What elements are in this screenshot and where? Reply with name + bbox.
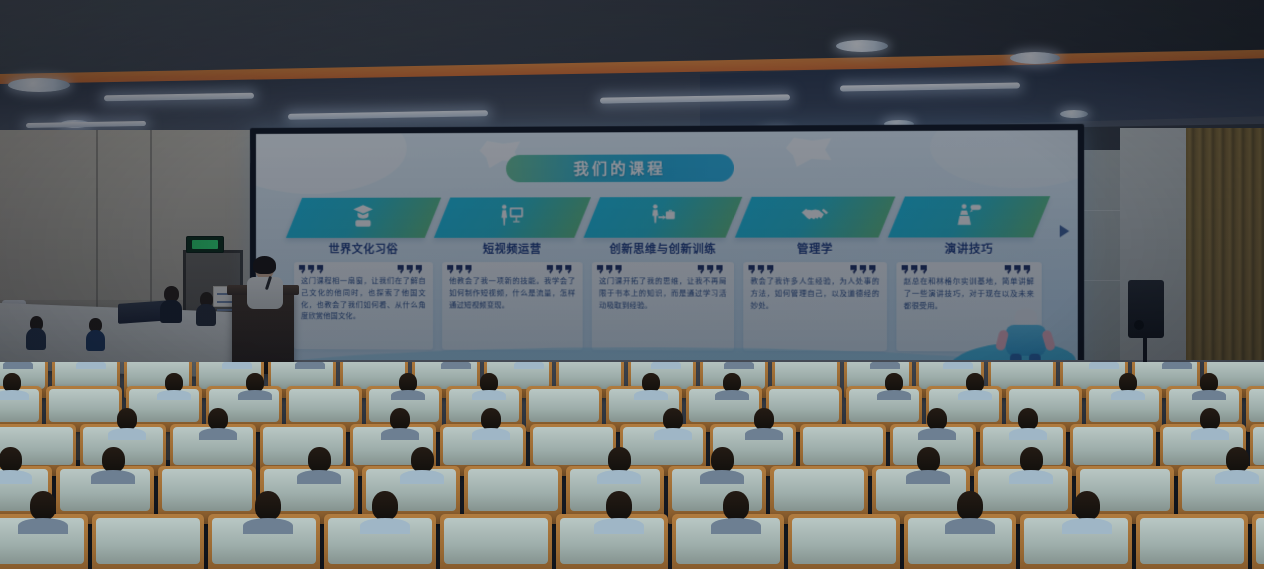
audience-person-head bbox=[723, 491, 750, 520]
audience-person-head bbox=[0, 447, 22, 472]
audience-person-shoulders bbox=[295, 362, 325, 369]
audience-head-row bbox=[0, 489, 1264, 526]
audience-person-shoulders bbox=[918, 428, 956, 440]
audience-person-shoulders bbox=[441, 362, 471, 369]
quote-mark-right-icon bbox=[547, 265, 578, 274]
ceiling-downlight bbox=[8, 78, 70, 92]
course-card-title: 短视频运营 bbox=[442, 244, 583, 258]
audience-head-row bbox=[0, 406, 1264, 436]
course-card-title: 管理学 bbox=[743, 244, 887, 258]
ceiling-downlight bbox=[836, 40, 888, 52]
slide-cloud bbox=[256, 130, 407, 194]
quote-mark-right-icon bbox=[850, 265, 881, 274]
audience-person-head bbox=[372, 491, 399, 520]
audience-person-head bbox=[917, 447, 940, 472]
emergency-exit-sign bbox=[186, 236, 224, 253]
audience-person-shoulders bbox=[1191, 428, 1229, 440]
audience-person-shoulders bbox=[360, 518, 411, 534]
audience-person-shoulders bbox=[297, 470, 341, 484]
audience-person-shoulders bbox=[715, 390, 748, 400]
course-card-body: 他教会了我一项新的技能。我学会了如何制作短视频，什么是流量，怎样通过短视频变现。 bbox=[442, 262, 583, 350]
pa-loudspeaker bbox=[1128, 280, 1164, 338]
course-card: 世界文化习俗这门课程相一扇窗，让我们在了解自己文化的他同时，也探索了他国文化，也… bbox=[294, 198, 433, 374]
audience-person-shoulders bbox=[1162, 362, 1192, 369]
audience-person-shoulders bbox=[381, 428, 419, 440]
seated-person bbox=[86, 318, 105, 359]
audience-person-shoulders bbox=[1192, 390, 1225, 400]
seated-person bbox=[26, 316, 46, 358]
audience-person-shoulders bbox=[222, 362, 252, 369]
audience-person-shoulders bbox=[76, 362, 106, 369]
audience-person-head bbox=[608, 447, 631, 472]
audience-person-shoulders bbox=[597, 470, 641, 484]
audience-person-shoulders bbox=[906, 470, 950, 484]
course-card-title: 世界文化习俗 bbox=[294, 244, 433, 258]
presenter bbox=[243, 258, 287, 306]
audience-person-head bbox=[1020, 447, 1043, 472]
audience-person-head bbox=[117, 408, 137, 430]
audience-person-head bbox=[957, 491, 984, 520]
course-card-banner bbox=[888, 196, 1050, 237]
audience-person-shoulders bbox=[1215, 470, 1259, 484]
presenter-board-icon bbox=[499, 202, 525, 233]
audience-person-shoulders bbox=[651, 362, 681, 369]
audience-person-shoulders bbox=[1009, 470, 1053, 484]
audience-person-shoulders bbox=[91, 470, 135, 484]
audience-person-shoulders bbox=[654, 428, 692, 440]
slide-arrow-icon bbox=[1060, 225, 1070, 237]
lecture-hall-photo: 我们的课程 世界文化习俗这门课程相一扇窗，让我们在了解自己文化的他同时，也探索了… bbox=[0, 0, 1264, 569]
audience-person-head bbox=[663, 408, 683, 430]
person-briefcase-idea-icon bbox=[649, 202, 676, 234]
exit-sign-glyph bbox=[192, 240, 218, 249]
seated-person bbox=[196, 292, 216, 334]
audience-person-head bbox=[1226, 447, 1249, 472]
audience-person-shoulders bbox=[958, 390, 991, 400]
audience-person-head bbox=[208, 408, 228, 430]
podium-speech-icon bbox=[955, 201, 982, 233]
ceiling-downlight bbox=[1010, 52, 1060, 64]
slide-title-text: 我们的课程 bbox=[573, 157, 665, 179]
audience-head-row bbox=[0, 371, 1264, 398]
seated-person bbox=[160, 286, 182, 330]
audience-person-shoulders bbox=[108, 428, 146, 440]
audience-person-shoulders bbox=[724, 362, 754, 369]
course-card-title: 演讲技巧 bbox=[896, 244, 1041, 258]
audience-person-head bbox=[927, 408, 947, 430]
audience-person-shoulders bbox=[700, 470, 744, 484]
audience-person-shoulders bbox=[157, 390, 190, 400]
audience-person-shoulders bbox=[1089, 362, 1119, 369]
audience-person-shoulders bbox=[745, 428, 783, 440]
audience-seating bbox=[0, 362, 1264, 569]
quote-mark-left-icon bbox=[299, 265, 329, 274]
audience-person-shoulders bbox=[945, 518, 996, 534]
audience-person-head bbox=[308, 447, 331, 472]
audience-person-shoulders bbox=[472, 428, 510, 440]
course-card-banner bbox=[286, 198, 441, 238]
audience-person-head bbox=[1074, 491, 1101, 520]
slide-title-banner: 我们的课程 bbox=[506, 154, 734, 182]
audience-person-shoulders bbox=[634, 390, 667, 400]
course-card-body: 教会了我许多人生经验，为人处事的方法，如何管理自己，以及道德经的妙处。 bbox=[743, 262, 887, 351]
audience-person-shoulders bbox=[238, 390, 271, 400]
course-card-banner bbox=[434, 197, 591, 238]
audience-person-head bbox=[1200, 408, 1220, 430]
quote-mark-left-icon bbox=[447, 265, 477, 274]
title-burst-right-icon bbox=[786, 137, 832, 168]
led-screen-frame: 我们的课程 世界文化习俗这门课程相一扇窗，让我们在了解自己文化的他同时，也探索了… bbox=[250, 124, 1084, 394]
quote-mark-right-icon bbox=[1005, 265, 1037, 274]
audience-person-shoulders bbox=[877, 390, 910, 400]
audience-person-shoulders bbox=[943, 362, 973, 369]
audience-person-head bbox=[711, 447, 734, 472]
audience-head-row bbox=[0, 445, 1264, 478]
audience-person-shoulders bbox=[3, 362, 33, 369]
audience-person-head bbox=[411, 447, 434, 472]
course-card-title: 创新思维与创新训练 bbox=[592, 244, 734, 258]
audience-person-head bbox=[481, 408, 501, 430]
audience-person-shoulders bbox=[199, 428, 237, 440]
audience-person-shoulders bbox=[18, 518, 69, 534]
audience-person-head bbox=[390, 408, 410, 430]
audience-person-shoulders bbox=[1111, 390, 1144, 400]
quote-mark-left-icon bbox=[748, 265, 779, 274]
audience-person-shoulders bbox=[391, 390, 424, 400]
quote-mark-right-icon bbox=[398, 265, 428, 274]
audience-person-shoulders bbox=[870, 362, 900, 369]
audience-person-shoulders bbox=[472, 390, 505, 400]
presentation-slide: 我们的课程 世界文化习俗这门课程相一扇窗，让我们在了解自己文化的他同时，也探索了… bbox=[256, 130, 1078, 388]
audience-person-head bbox=[255, 491, 282, 520]
course-card-text: 这门课开拓了我的思维，让我不再局限于书本上的知识，而是通过学习活动吸取到经验。 bbox=[599, 275, 727, 311]
audience-person-head bbox=[754, 408, 774, 430]
quote-mark-left-icon bbox=[597, 265, 628, 274]
audience-person-head bbox=[1018, 408, 1038, 430]
audience-person-shoulders bbox=[1009, 428, 1047, 440]
audience-person-shoulders bbox=[0, 390, 29, 400]
quote-mark-left-icon bbox=[902, 265, 933, 274]
course-card-text: 他教会了我一项新的技能。我学会了如何制作短视频，什么是流量，怎样通过短视频变现。 bbox=[449, 275, 575, 311]
audience-person-shoulders bbox=[243, 518, 294, 534]
audience-person-shoulders bbox=[0, 470, 32, 484]
ceiling-downlight bbox=[1060, 110, 1088, 118]
graduation-person-icon bbox=[350, 202, 376, 233]
course-card-text: 教会了我许多人生经验，为人处事的方法，如何管理自己，以及道德经的妙处。 bbox=[751, 275, 880, 312]
audience-person-head bbox=[102, 447, 125, 472]
course-card-banner bbox=[735, 197, 896, 238]
audience-person-head bbox=[606, 491, 633, 520]
audience-person-shoulders bbox=[594, 518, 645, 534]
audience-person-shoulders bbox=[400, 470, 444, 484]
audience-person-shoulders bbox=[711, 518, 762, 534]
handshake-icon bbox=[800, 200, 829, 234]
course-card-body: 这门课程相一扇窗，让我们在了解自己文化的他同时，也探索了他国文化，也教会了我们如… bbox=[294, 262, 433, 350]
course-card-text: 这门课程相一扇窗，让我们在了解自己文化的他同时，也探索了他国文化，也教会了我们如… bbox=[301, 275, 426, 323]
audience-person-shoulders bbox=[514, 362, 544, 369]
audience-person-shoulders bbox=[1062, 518, 1113, 534]
audience-head-row bbox=[0, 362, 1264, 368]
audience-person-head bbox=[30, 491, 57, 520]
quote-mark-right-icon bbox=[698, 265, 729, 274]
slide-cloud bbox=[930, 130, 1078, 188]
course-card-banner bbox=[584, 197, 743, 238]
course-card-body: 这门课开拓了我的思维，让我不再局限于书本上的知识，而是通过学习活动吸取到经验。 bbox=[592, 262, 734, 351]
